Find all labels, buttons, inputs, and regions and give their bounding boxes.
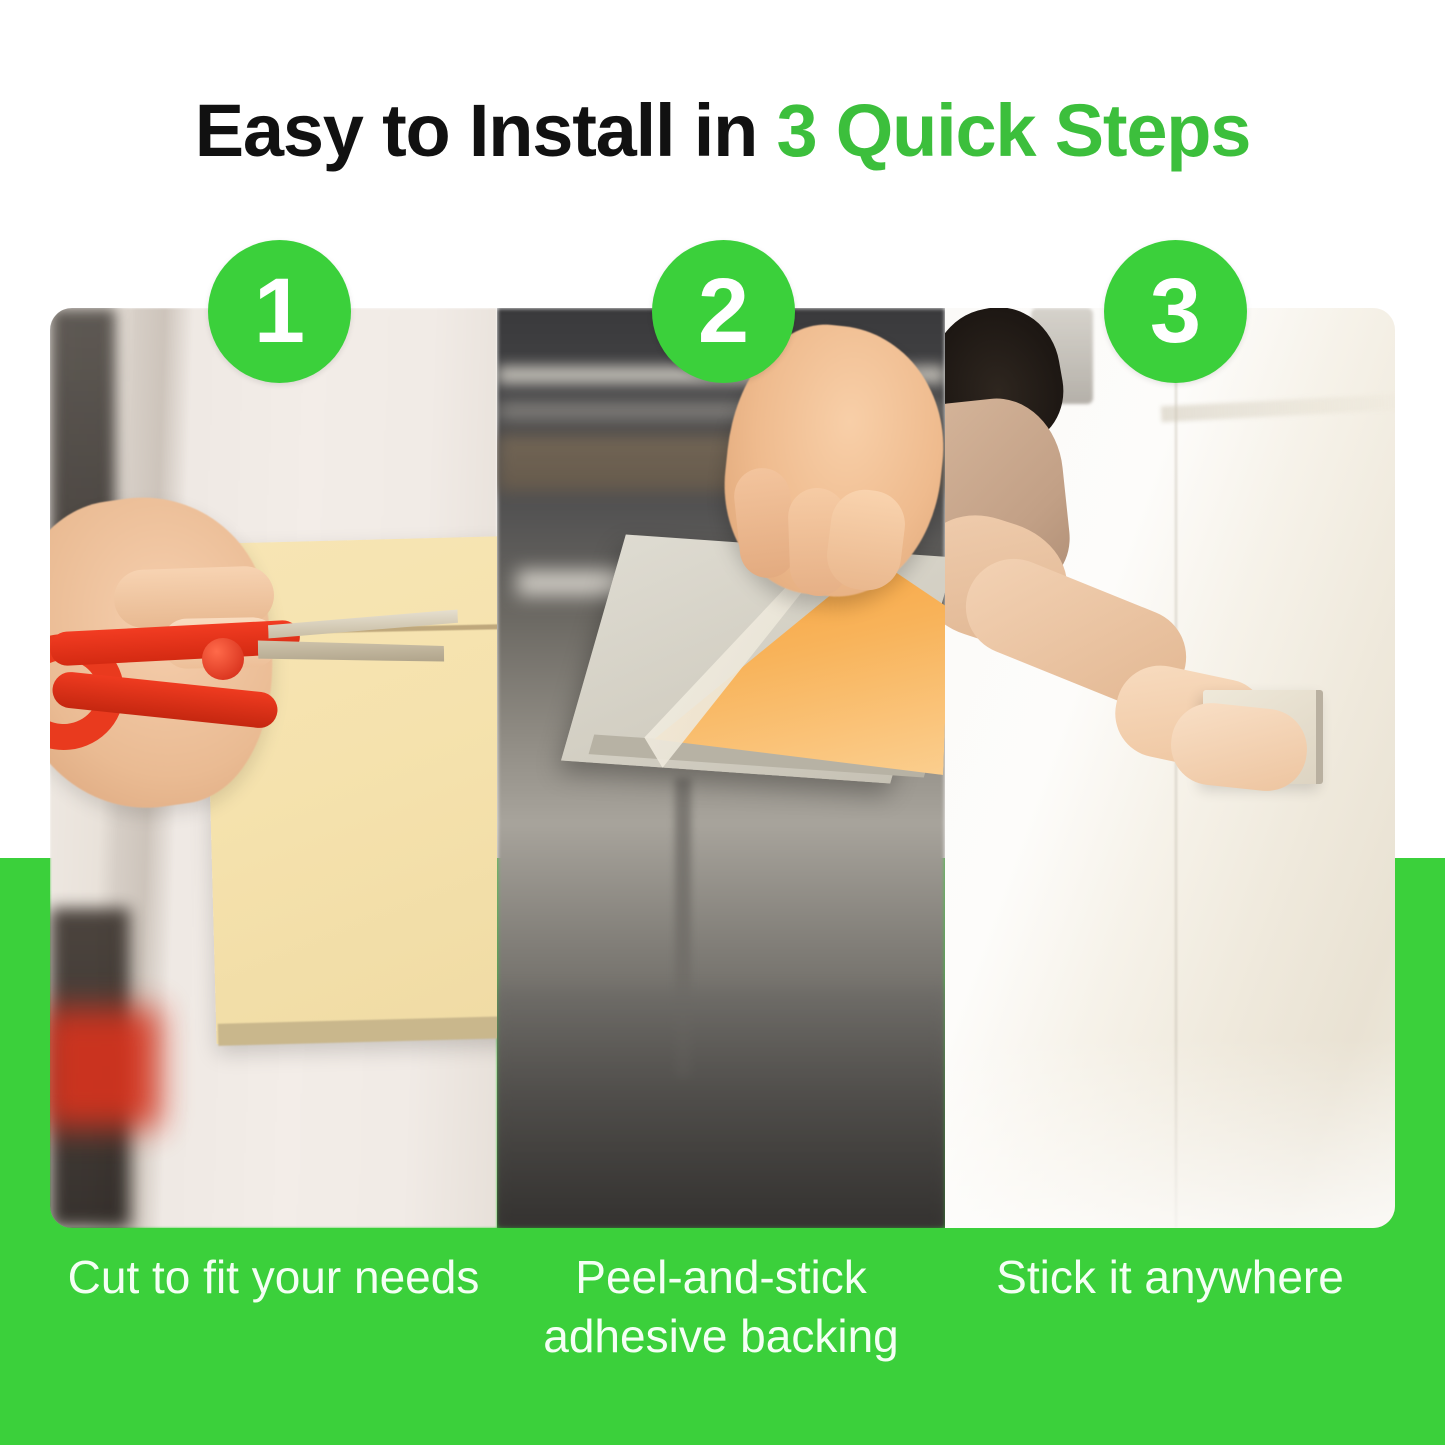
install-steps-infographic: Easy to Install in 3 Quick Steps [0,0,1445,1445]
step-2-caption: Peel-and-stick adhesive backing [497,1248,945,1408]
step-1-number-badge: 1 [208,240,351,383]
page-title-dark-text: Easy to Install in [195,89,777,172]
step-2-floor [497,988,945,1228]
step-3-caption: Stick it anywhere [945,1248,1395,1408]
scissors-pivot-icon [202,638,244,680]
step-1-photo [50,308,497,1228]
page-title: Easy to Install in 3 Quick Steps [0,92,1445,170]
step-3-light-wash [945,1038,1395,1228]
step-photo-strip [50,308,1395,1228]
step-captions: Cut to fit your needs Peel-and-stick adh… [50,1248,1395,1408]
step-2-number-badge: 2 [652,240,795,383]
step-1-caption: Cut to fit your needs [50,1248,497,1408]
step-3-number-badge: 3 [1104,240,1247,383]
page-title-green-text: 3 Quick Steps [776,89,1250,172]
step-2-photo [497,308,945,1228]
step-3-photo [945,308,1395,1228]
step-1-red-blur [50,1008,160,1128]
